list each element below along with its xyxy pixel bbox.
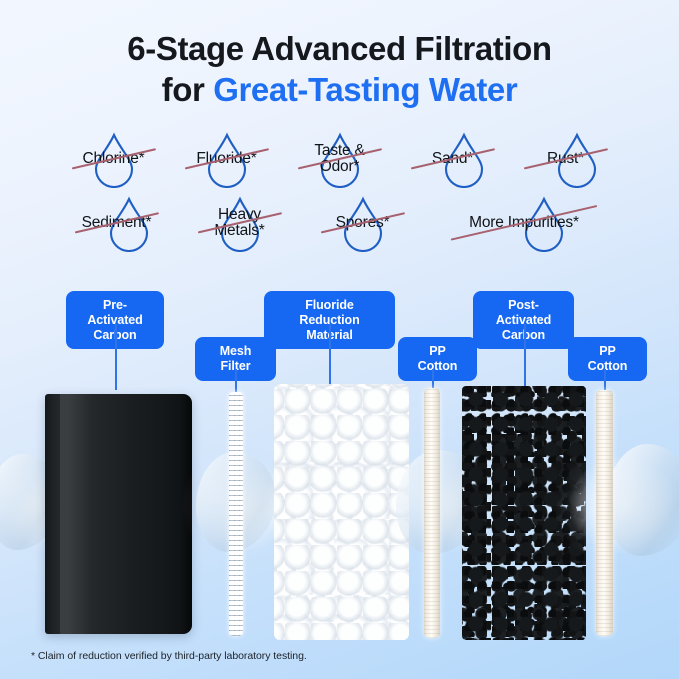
contaminant-heavy-metals: Heavy Metals* — [178, 192, 301, 254]
media-black-carbon-block — [45, 394, 192, 634]
contaminant-taste-and-odor: Taste & Odor* — [283, 128, 396, 190]
media-mesh-screen — [229, 392, 243, 636]
contaminant-label: Heavy Metals* — [205, 207, 275, 240]
page-title: 6-Stage Advanced Filtration for Great-Ta… — [0, 30, 679, 110]
contaminant-label: Sand* — [432, 151, 473, 167]
filter-media-assembly — [0, 378, 679, 646]
contaminant-row-2: Sediment* Heavy Metals* Spores* More Imp… — [0, 192, 679, 254]
contaminant-label: Taste & Odor* — [305, 143, 375, 176]
media-white-bead-bed — [274, 384, 409, 640]
contaminant-label: Spores* — [336, 215, 390, 231]
headline-line-1: 6-Stage Advanced Filtration — [0, 30, 679, 69]
media-granular-activated-carbon — [462, 386, 586, 640]
product-infographic: 6-Stage Advanced Filtration for Great-Ta… — [0, 0, 679, 679]
callout-pp-cotton-right[interactable]: PP Cotton — [568, 337, 647, 381]
footnote-disclaimer: * Claim of reduction verified by third-p… — [31, 650, 307, 662]
contaminant-label: More Impurities* — [469, 215, 579, 231]
contaminant-sediment: Sediment* — [55, 192, 178, 254]
media-pp-cotton-pad-right — [596, 390, 613, 636]
media-pp-cotton-pad-left — [424, 388, 440, 638]
water-splash-detail-right — [606, 444, 679, 556]
headline-line-2: for Great-Tasting Water — [0, 71, 679, 110]
contaminant-more-impurities: More Impurities* — [424, 192, 624, 254]
callout-pp-cotton-left[interactable]: PP Cotton — [398, 337, 477, 381]
contaminant-label: Fluoride* — [196, 151, 256, 167]
headline-line-2-accent: Great-Tasting Water — [213, 71, 517, 108]
connector-fluoride-reduction-material — [329, 324, 331, 384]
contaminant-fluoride: Fluoride* — [170, 128, 283, 190]
contaminant-row-1: Chlorine* Fluoride* Taste & Odor* Sand* — [0, 128, 679, 190]
contaminant-chlorine: Chlorine* — [57, 128, 170, 190]
contaminant-label: Rust* — [547, 151, 584, 167]
contaminant-label: Chlorine* — [83, 151, 145, 167]
headline-line-2-prefix: for — [162, 71, 214, 108]
contaminant-rust: Rust* — [509, 128, 622, 190]
contaminant-sand: Sand* — [396, 128, 509, 190]
contaminant-label: Sediment* — [82, 215, 152, 231]
contaminant-spores: Spores* — [301, 192, 424, 254]
